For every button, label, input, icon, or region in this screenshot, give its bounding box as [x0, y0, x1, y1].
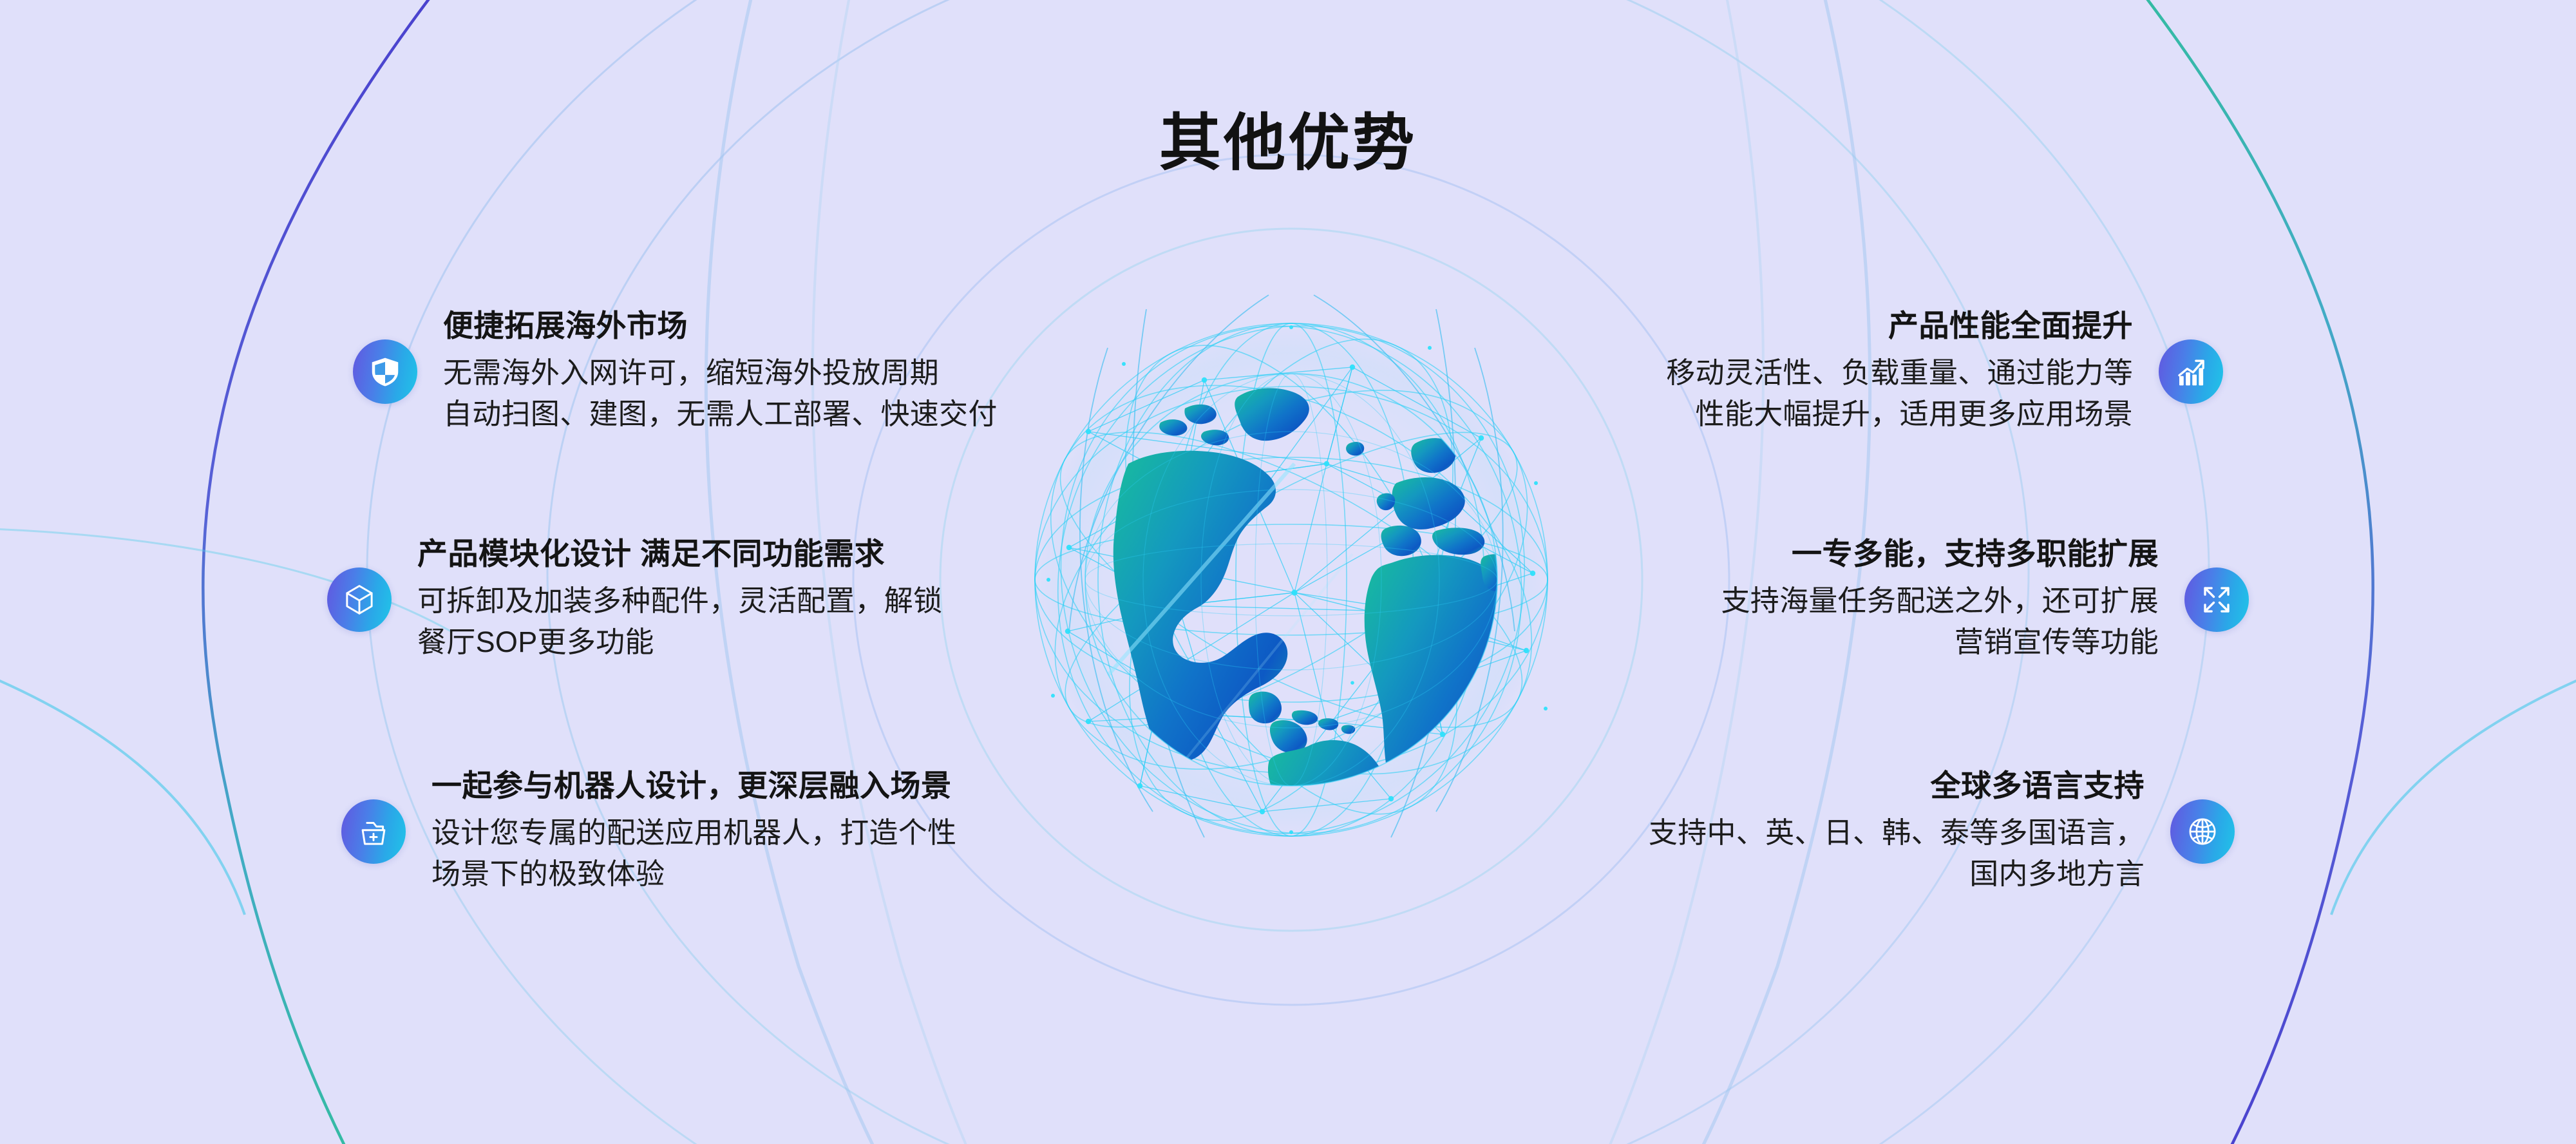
- feature-line: 餐厅SOP更多功能: [417, 622, 942, 663]
- expand-arrows-icon: [2199, 582, 2234, 617]
- page-title: 其他优势: [0, 113, 2576, 175]
- feature-line: 营销宣传等功能: [1721, 622, 2159, 663]
- cube-icon-badge[interactable]: [327, 567, 392, 632]
- globe-icon: [2185, 814, 2220, 849]
- chart-up-icon-badge[interactable]: [2159, 339, 2223, 404]
- feature-heading: 一起参与机器人设计，更深层融入场景: [431, 768, 956, 803]
- feature-line: 可拆卸及加装多种配件，灵活配置，解锁: [417, 580, 942, 622]
- feature-line: 无需海外入网许可，缩短海外投放周期: [443, 352, 998, 394]
- infographic-root: 其他优势: [0, 0, 2576, 1144]
- feature-text: 一起参与机器人设计，更深层融入场景 设计您专属的配送应用机器人，打造个性 场景下…: [406, 768, 956, 895]
- cube-icon: [342, 582, 377, 617]
- shield-icon: [368, 354, 402, 389]
- feature-item-co-design-robot[interactable]: 一起参与机器人设计，更深层融入场景 设计您专属的配送应用机器人，打造个性 场景下…: [341, 768, 956, 895]
- feature-text: 便捷拓展海外市场 无需海外入网许可，缩短海外投放周期 自动扫图、建图，无需人工部…: [417, 308, 998, 435]
- feature-line: 移动灵活性、负载重量、通过能力等: [1666, 352, 2133, 394]
- feature-line: 支持海量任务配送之外，还可扩展: [1721, 580, 2159, 622]
- feature-line: 自动扫图、建图，无需人工部署、快速交付: [443, 394, 998, 435]
- feature-line: 性能大幅提升，适用更多应用场景: [1666, 394, 2133, 435]
- feature-text: 全球多语言支持 支持中、英、日、韩、泰等多国语言， 国内多地方言: [1649, 768, 2170, 895]
- feature-text: 产品模块化设计 满足不同功能需求 可拆卸及加装多种配件，灵活配置，解锁 餐厅SO…: [392, 536, 942, 663]
- feature-heading: 产品模块化设计 满足不同功能需求: [417, 536, 942, 571]
- feature-line: 设计您专属的配送应用机器人，打造个性: [431, 812, 956, 853]
- feature-heading: 全球多语言支持: [1649, 768, 2145, 803]
- feature-heading: 产品性能全面提升: [1666, 308, 2133, 343]
- feature-item-multifunction-expand[interactable]: 一专多能，支持多职能扩展 支持海量任务配送之外，还可扩展 营销宣传等功能: [1721, 536, 2249, 663]
- expand-arrows-icon-badge[interactable]: [2184, 567, 2249, 632]
- folder-plus-icon: [356, 814, 391, 849]
- feature-item-modular-design[interactable]: 产品模块化设计 满足不同功能需求 可拆卸及加装多种配件，灵活配置，解锁 餐厅SO…: [327, 536, 942, 663]
- shield-icon-badge[interactable]: [353, 339, 417, 404]
- feature-heading: 便捷拓展海外市场: [443, 308, 998, 343]
- globe-svg: [992, 271, 1591, 889]
- feature-line: 支持中、英、日、韩、泰等多国语言，: [1649, 812, 2145, 853]
- feature-line: 国内多地方言: [1649, 853, 2145, 895]
- feature-item-overseas-market[interactable]: 便捷拓展海外市场 无需海外入网许可，缩短海外投放周期 自动扫图、建图，无需人工部…: [353, 308, 998, 435]
- chart-up-icon: [2173, 354, 2208, 389]
- globe-icon-badge[interactable]: [2170, 799, 2235, 864]
- folder-plus-icon-badge[interactable]: [341, 799, 406, 864]
- feature-line: 场景下的极致体验: [431, 853, 956, 895]
- global-network-globe: [992, 271, 1591, 889]
- feature-text: 产品性能全面提升 移动灵活性、负载重量、通过能力等 性能大幅提升，适用更多应用场…: [1666, 308, 2159, 435]
- feature-text: 一专多能，支持多职能扩展 支持海量任务配送之外，还可扩展 营销宣传等功能: [1721, 536, 2184, 663]
- feature-item-performance-upgrade[interactable]: 产品性能全面提升 移动灵活性、负载重量、通过能力等 性能大幅提升，适用更多应用场…: [1666, 308, 2223, 435]
- feature-heading: 一专多能，支持多职能扩展: [1721, 536, 2159, 571]
- feature-item-multilanguage-support[interactable]: 全球多语言支持 支持中、英、日、韩、泰等多国语言， 国内多地方言: [1649, 768, 2235, 895]
